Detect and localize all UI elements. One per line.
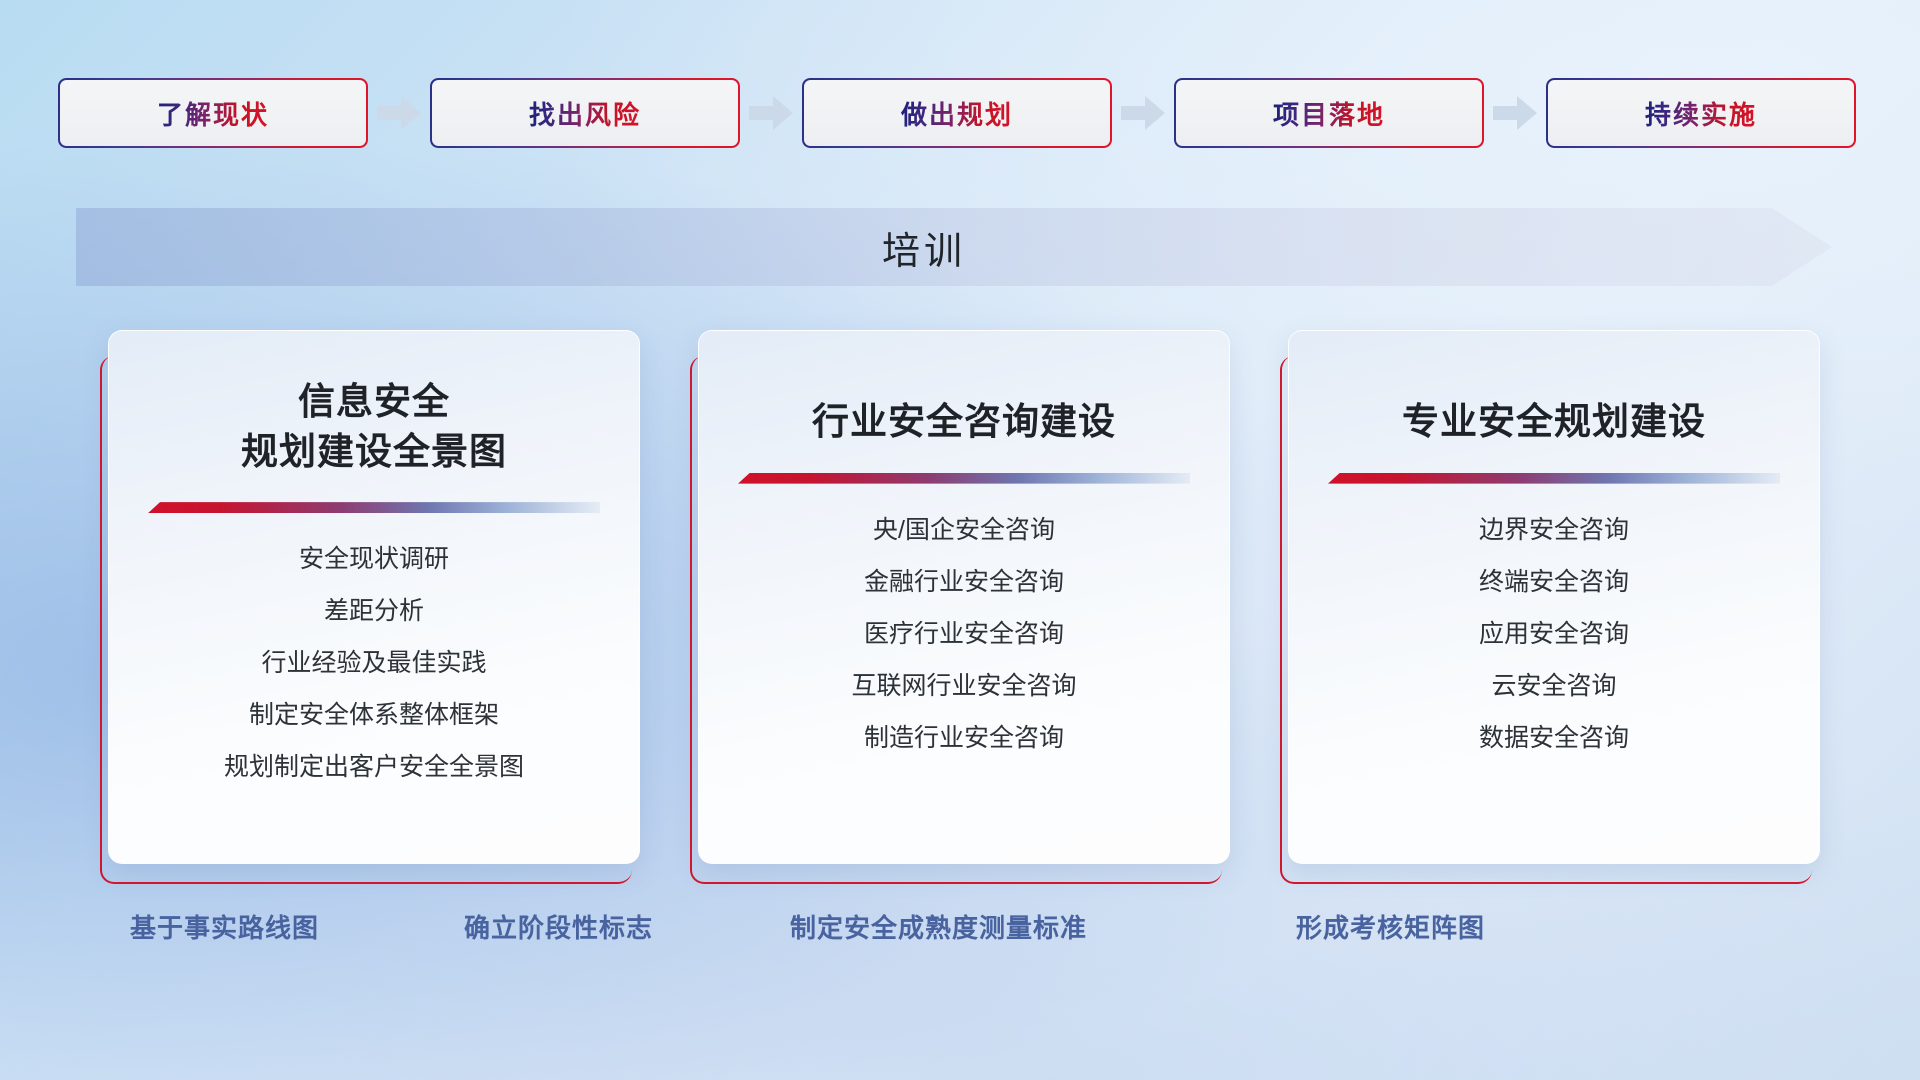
- list-item: 安全现状调研: [109, 547, 639, 572]
- banner-title: 培训: [76, 208, 1832, 286]
- card-title-1: 信息安全 规划建设全景图: [109, 377, 639, 476]
- step-label-3: 做出规划: [901, 95, 1013, 132]
- card-title-3: 专业安全规划建设: [1289, 397, 1819, 447]
- caption-1: 基于事实路线图: [130, 908, 319, 945]
- list-item: 央/国企安全咨询: [699, 518, 1229, 543]
- step-label-2: 找出风险: [529, 95, 641, 132]
- card-3[interactable]: 专业安全规划建设 边界安全咨询 终端安全咨询 应用安全咨询 云安全咨询 数据安全…: [1288, 330, 1820, 876]
- list-item: 规划制定出客户安全全景图: [109, 755, 639, 780]
- list-item: 制造行业安全咨询: [699, 726, 1229, 751]
- step-box-1[interactable]: 了解现状: [60, 80, 366, 146]
- list-item: 金融行业安全咨询: [699, 570, 1229, 595]
- card-list-3: 边界安全咨询 终端安全咨询 应用安全咨询 云安全咨询 数据安全咨询: [1289, 518, 1819, 778]
- card-divider: [1328, 473, 1780, 484]
- process-step-row: 了解现状 找出风险 做出规划 项目落地: [60, 76, 1860, 150]
- list-item: 制定安全体系整体框架: [109, 703, 639, 728]
- list-item: 差距分析: [109, 599, 639, 624]
- step-box-5[interactable]: 持续实施: [1548, 80, 1854, 146]
- list-item: 应用安全咨询: [1289, 622, 1819, 647]
- step-label-4: 项目落地: [1273, 95, 1385, 132]
- card-divider: [738, 473, 1190, 484]
- step-box-3[interactable]: 做出规划: [804, 80, 1110, 146]
- step-box-2[interactable]: 找出风险: [432, 80, 738, 146]
- step-label-5: 持续实施: [1645, 95, 1757, 132]
- right-arrow-icon: [1482, 93, 1548, 133]
- card-list-1: 安全现状调研 差距分析 行业经验及最佳实践 制定安全体系整体框架 规划制定出客户…: [109, 547, 639, 807]
- right-arrow-icon: [1110, 93, 1176, 133]
- step-label-1: 了解现状: [157, 95, 269, 132]
- right-arrow-icon: [366, 93, 432, 133]
- card-row: 信息安全 规划建设全景图 安全现状调研 差距分析 行业经验及最佳实践 制定安全体…: [108, 330, 1820, 876]
- list-item: 医疗行业安全咨询: [699, 622, 1229, 647]
- training-banner: 培训: [76, 208, 1832, 286]
- caption-2: 确立阶段性标志: [464, 908, 653, 945]
- right-arrow-icon: [738, 93, 804, 133]
- step-box-4[interactable]: 项目落地: [1176, 80, 1482, 146]
- card-title-2: 行业安全咨询建设: [699, 397, 1229, 447]
- list-item: 边界安全咨询: [1289, 518, 1819, 543]
- card-2[interactable]: 行业安全咨询建设 央/国企安全咨询 金融行业安全咨询 医疗行业安全咨询 互联网行…: [698, 330, 1230, 876]
- card-1[interactable]: 信息安全 规划建设全景图 安全现状调研 差距分析 行业经验及最佳实践 制定安全体…: [108, 330, 640, 876]
- card-list-2: 央/国企安全咨询 金融行业安全咨询 医疗行业安全咨询 互联网行业安全咨询 制造行…: [699, 518, 1229, 778]
- list-item: 数据安全咨询: [1289, 726, 1819, 751]
- slide-canvas: 了解现状 找出风险 做出规划 项目落地: [0, 0, 1920, 1080]
- list-item: 云安全咨询: [1289, 674, 1819, 699]
- caption-row: 基于事实路线图 确立阶段性标志 制定安全成熟度测量标准 形成考核矩阵图: [0, 908, 1920, 956]
- list-item: 互联网行业安全咨询: [699, 674, 1229, 699]
- caption-3: 制定安全成熟度测量标准: [790, 908, 1087, 945]
- caption-4: 形成考核矩阵图: [1296, 908, 1485, 945]
- card-divider: [148, 502, 600, 513]
- list-item: 终端安全咨询: [1289, 570, 1819, 595]
- list-item: 行业经验及最佳实践: [109, 651, 639, 676]
